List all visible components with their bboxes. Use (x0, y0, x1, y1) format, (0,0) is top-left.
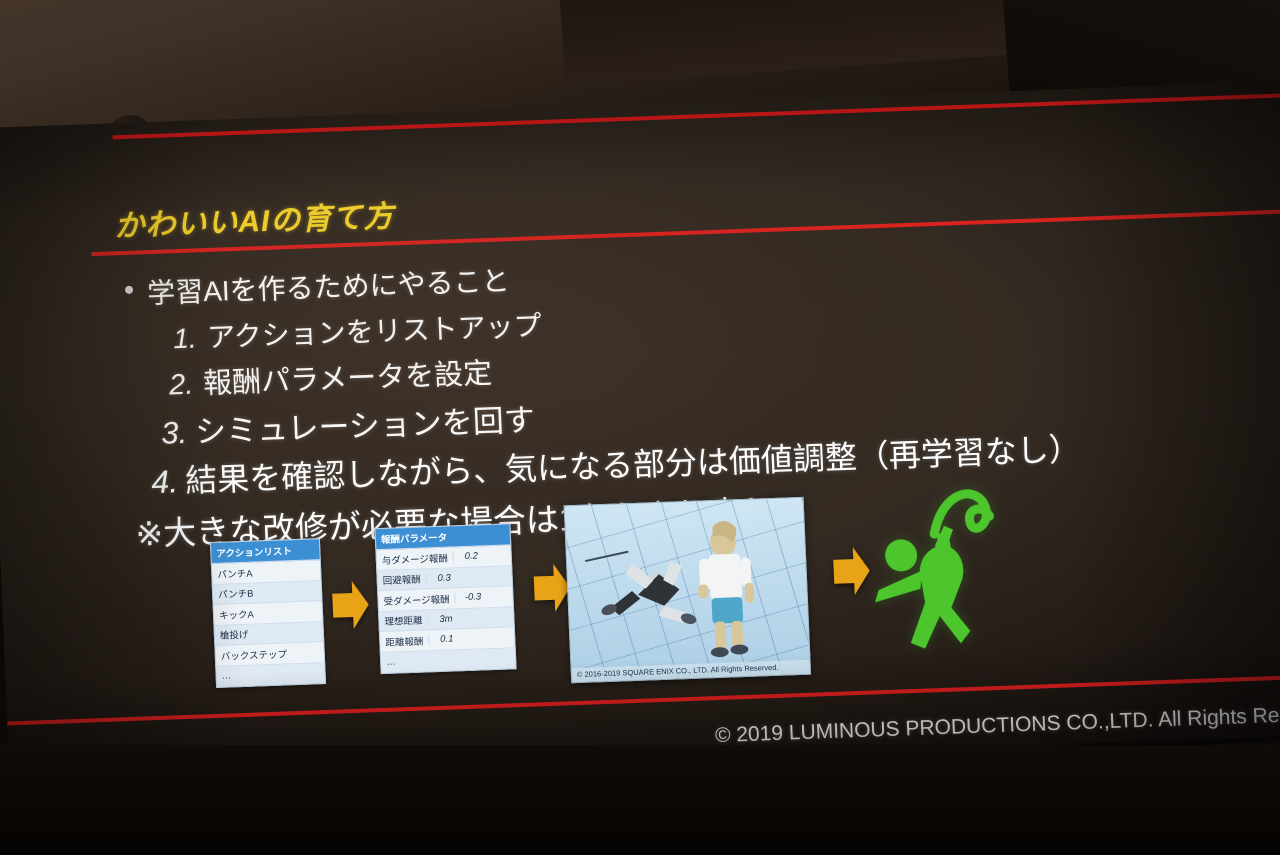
step-number-1: 1. (173, 322, 208, 355)
action-row-3: 槍投げ (215, 627, 254, 642)
bullet-item-label: 学習AIを作るためにやること (147, 265, 511, 309)
table-row: … (381, 648, 516, 673)
photo-of-projected-slide: LUMINOUS PRODUCTIONS かわいいAIの育て方 学習AIを作るた… (0, 0, 1280, 855)
action-row-2: キックA (214, 606, 259, 622)
reward-label-5: … (381, 657, 401, 669)
reward-value-5 (401, 661, 437, 662)
slide-title: かわいいAIの育て方 (113, 191, 395, 245)
step-label-1: アクションをリストアップ (207, 310, 543, 353)
workflow-diagram: アクションリスト パンチA パンチB キックA 槍投げ バックステップ … (209, 489, 1097, 730)
bullet-dot-icon (125, 286, 133, 294)
reward-table-header-value (452, 535, 488, 536)
table-row: … (216, 663, 325, 687)
room-floor-shadow (0, 745, 1280, 855)
step-number-2: 2. (168, 368, 203, 402)
reward-parameter-table: 報酬パラメータ 与ダメージ報酬 0.2 回避報酬 0.3 受ダメージ報酬 -0.… (374, 523, 516, 674)
action-row-1: パンチB (213, 586, 259, 602)
arrow-right-icon (330, 576, 372, 633)
characters-illustration (565, 498, 810, 682)
action-row-4: バックステップ (215, 646, 292, 663)
projection-screen: LUMINOUS PRODUCTIONS かわいいAIの育て方 学習AIを作るた… (0, 80, 1280, 787)
action-list-table: アクションリスト パンチA パンチB キックA 槍投げ バックステップ … (210, 538, 326, 688)
reward-value-2: -0.3 (454, 591, 490, 603)
reward-label-3: 理想距離 (379, 613, 428, 629)
action-row-5: … (216, 671, 236, 683)
green-character-pictogram-icon (858, 472, 1047, 688)
reward-label-1: 回避報酬 (377, 572, 426, 588)
step-number-4: 4. (151, 463, 187, 501)
step-label-2: 報酬パラメータを設定 (202, 358, 492, 400)
reward-value-4: 0.1 (428, 633, 464, 645)
reward-value-0: 0.2 (453, 550, 489, 562)
reward-value-3: 3m (427, 613, 463, 625)
reward-label-2: 受ダメージ報酬 (378, 591, 455, 608)
reward-table-header: 報酬パラメータ (376, 529, 453, 546)
reward-value-1: 0.3 (425, 572, 461, 584)
step-number-3: 3. (160, 415, 196, 452)
reward-label-0: 与ダメージ報酬 (377, 550, 454, 567)
action-row-0: パンチA (212, 565, 258, 581)
action-table-header: アクションリスト (211, 543, 297, 560)
step-label-3: シミュレーションを回す (194, 402, 535, 449)
slide-surface: LUMINOUS PRODUCTIONS かわいいAIの育て方 学習AIを作るた… (0, 80, 1280, 787)
game-simulation-screenshot: © 2016-2019 SQUARE ENIX CO., LTD. All Ri… (564, 497, 811, 683)
reward-label-4: 距離報酬 (380, 633, 429, 649)
